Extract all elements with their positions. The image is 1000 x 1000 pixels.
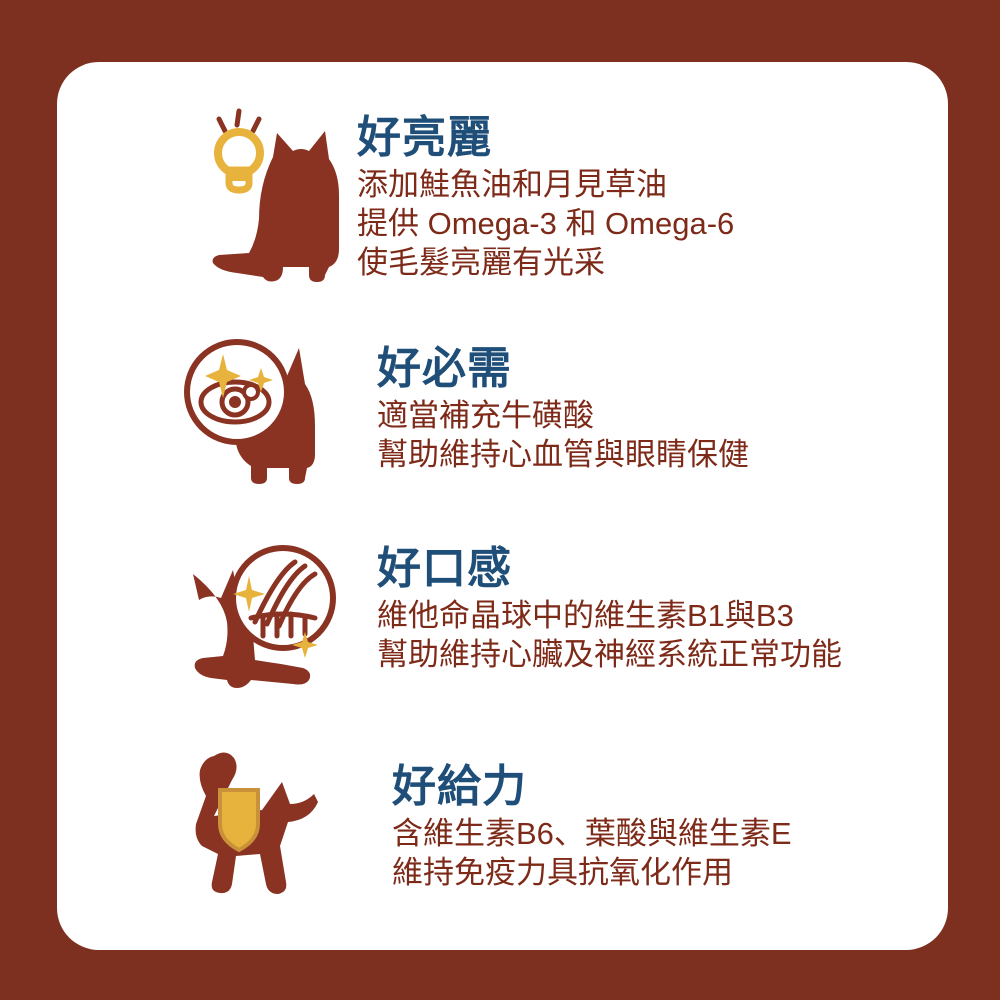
feature-item-essential-nutrients: 好必需 適當補充牛磺酸 幫助維持心血管與眼睛保健	[175, 332, 749, 492]
feature-line: 添加鮭魚油和月見草油	[357, 165, 734, 204]
feature-item-immunity: 好給力 含維生素B6、葉酸與維生素E 維持免疫力具抗氧化作用	[162, 742, 792, 902]
cat-with-teeth-icon	[177, 540, 347, 705]
content-card: 好亮麗 添加鮭魚油和月見草油 提供 Omega-3 和 Omega-6 使毛髮亮…	[57, 62, 948, 950]
cat-with-shield-icon	[162, 742, 347, 902]
feature-item-shiny-coat: 好亮麗 添加鮭魚油和月見草油 提供 Omega-3 和 Omega-6 使毛髮亮…	[197, 107, 734, 292]
feature-title: 好必需	[377, 344, 749, 394]
feature-description: 維他命晶球中的維生素B1與B3 幫助維持心臟及神經系統正常功能	[377, 596, 842, 674]
feature-line: 使毛髮亮麗有光采	[357, 243, 734, 282]
feature-line: 維他命晶球中的維生素B1與B3	[377, 596, 842, 635]
feature-line: 含維生素B6、葉酸與維生素E	[392, 814, 792, 853]
feature-title: 好亮麗	[357, 113, 734, 163]
feature-line: 幫助維持心血管與眼睛保健	[377, 435, 749, 474]
feature-line: 適當補充牛磺酸	[377, 396, 749, 435]
feature-text-block: 好給力 含維生素B6、葉酸與維生素E 維持免疫力具抗氧化作用	[347, 742, 792, 892]
feature-line: 維持免疫力具抗氧化作用	[392, 853, 792, 892]
poster-frame: 好亮麗 添加鮭魚油和月見草油 提供 Omega-3 和 Omega-6 使毛髮亮…	[0, 0, 1000, 1000]
cat-with-lightbulb-icon	[197, 107, 347, 292]
feature-description: 含維生素B6、葉酸與維生素E 維持免疫力具抗氧化作用	[392, 814, 792, 892]
feature-description: 適當補充牛磺酸 幫助維持心血管與眼睛保健	[377, 396, 749, 474]
feature-title: 好給力	[392, 762, 792, 812]
feature-line: 提供 Omega-3 和 Omega-6	[357, 204, 734, 243]
feature-item-good-taste: 好口感 維他命晶球中的維生素B1與B3 幫助維持心臟及神經系統正常功能	[177, 540, 842, 705]
feature-text-block: 好亮麗 添加鮭魚油和月見草油 提供 Omega-3 和 Omega-6 使毛髮亮…	[347, 107, 734, 282]
cat-with-eye-icon	[175, 332, 347, 492]
feature-description: 添加鮭魚油和月見草油 提供 Omega-3 和 Omega-6 使毛髮亮麗有光采	[357, 165, 734, 282]
feature-text-block: 好必需 適當補充牛磺酸 幫助維持心血管與眼睛保健	[347, 332, 749, 474]
feature-text-block: 好口感 維他命晶球中的維生素B1與B3 幫助維持心臟及神經系統正常功能	[347, 540, 842, 674]
feature-title: 好口感	[377, 544, 842, 594]
feature-line: 幫助維持心臟及神經系統正常功能	[377, 635, 842, 674]
feature-list: 好亮麗 添加鮭魚油和月見草油 提供 Omega-3 和 Omega-6 使毛髮亮…	[57, 62, 948, 950]
